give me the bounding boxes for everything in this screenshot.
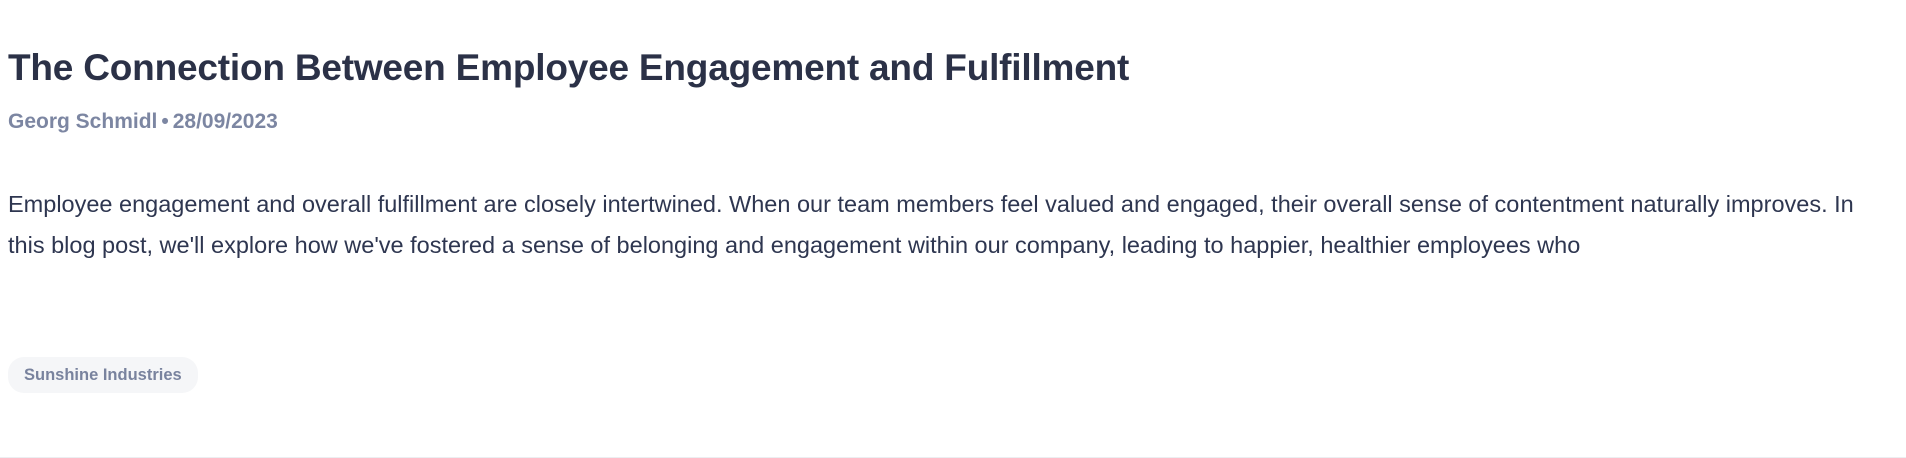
post-date: 28/09/2023	[173, 110, 278, 133]
post-byline: Georg Schmidl•28/09/2023	[8, 108, 278, 136]
tag-sunshine-industries[interactable]: Sunshine Industries	[8, 357, 198, 393]
byline-separator-dot: •	[157, 110, 172, 133]
post-title[interactable]: The Connection Between Employee Engageme…	[8, 45, 1129, 91]
post-author: Georg Schmidl	[8, 110, 157, 133]
post-tag-list: Sunshine Industries	[8, 357, 198, 393]
post-excerpt: Employee engagement and overall fulfillm…	[8, 184, 1890, 266]
blog-post-card[interactable]: The Connection Between Employee Engageme…	[0, 0, 1906, 458]
